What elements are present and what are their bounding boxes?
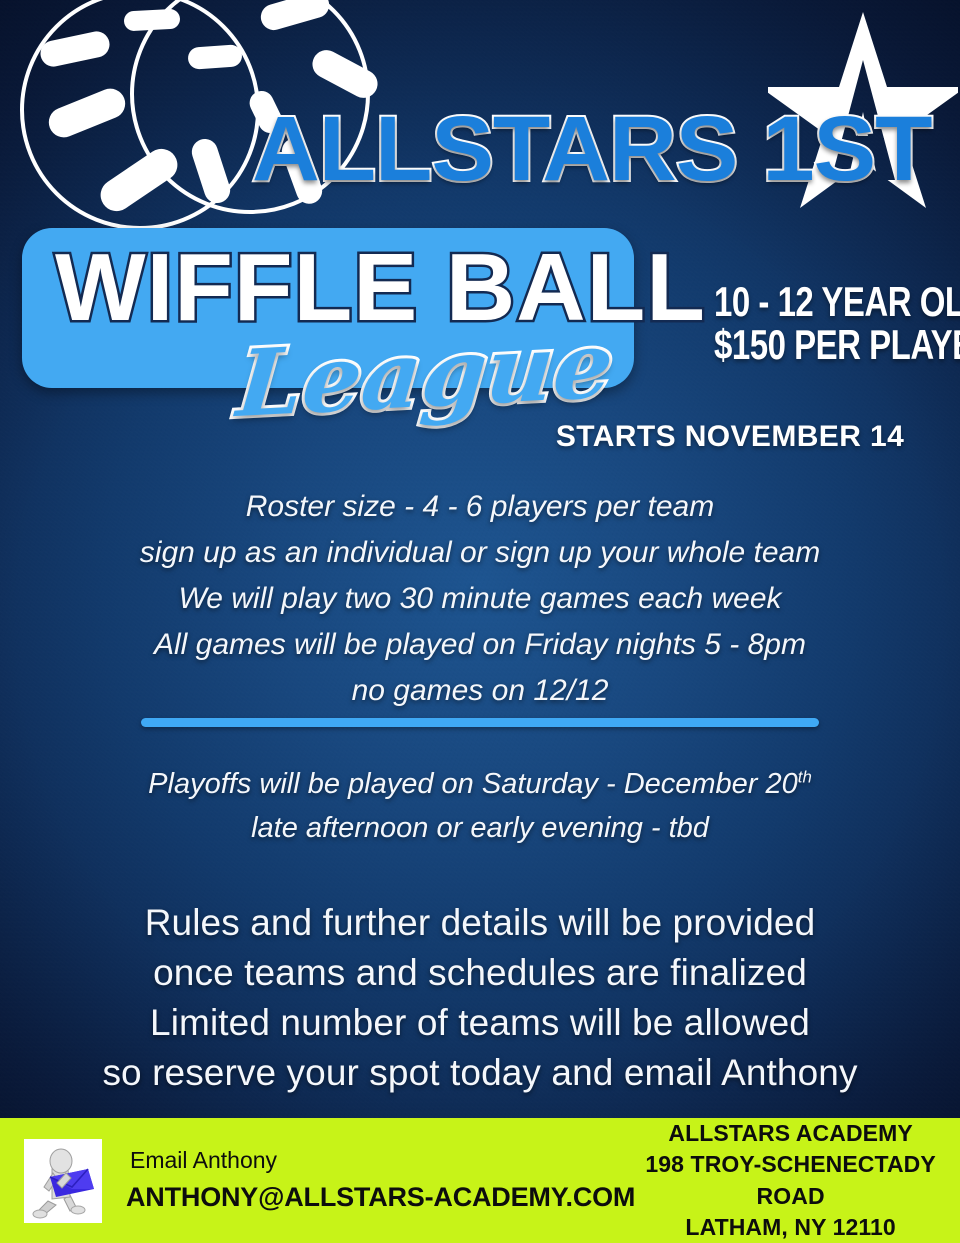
- rules-line: Limited number of teams will be allowed: [0, 998, 960, 1048]
- email-label: Email Anthony: [126, 1148, 635, 1183]
- footer-left-group: Email Anthony ANTHONY@ALLSTARS-ACADEMY.C…: [0, 1139, 635, 1223]
- start-date-text: STARTS NOVEMBER 14: [520, 420, 940, 454]
- playoffs-block: Playoffs will be played on Saturday - De…: [0, 762, 960, 850]
- detail-line: sign up as an individual or sign up your…: [0, 530, 960, 576]
- city-state-zip: LATHAM, NY 12110: [635, 1212, 946, 1243]
- playoffs-line-2: late afternoon or early evening - tbd: [0, 806, 960, 850]
- footer-address-group: ALLSTARS ACADEMY 198 TROY-SCHENECTADY RO…: [635, 1118, 960, 1243]
- running-person-with-envelope-icon: [24, 1139, 102, 1223]
- street-address: 198 TROY-SCHENECTADY ROAD: [635, 1149, 946, 1212]
- footer-contact-bar: Email Anthony ANTHONY@ALLSTARS-ACADEMY.C…: [0, 1118, 960, 1243]
- page-title-league-script: League: [234, 319, 617, 430]
- email-address-link[interactable]: ANTHONY@ALLSTARS-ACADEMY.COM: [126, 1183, 635, 1213]
- rules-line: once teams and schedules are finalized: [0, 948, 960, 998]
- rules-line: so reserve your spot today and email Ant…: [0, 1048, 960, 1098]
- section-divider: [141, 718, 819, 727]
- ordinal-suffix: th: [798, 767, 812, 786]
- page-title-allstars: ALLSTARS 1ST: [252, 103, 931, 195]
- footer-email-group: Email Anthony ANTHONY@ALLSTARS-ACADEMY.C…: [102, 1148, 635, 1213]
- playoffs-line-1: Playoffs will be played on Saturday - De…: [0, 762, 960, 806]
- flyer-poster: ALLSTARS 1ST WIFFLE BALL League 10 - 12 …: [0, 0, 960, 1243]
- playoffs-date-text: Playoffs will be played on Saturday - De…: [148, 768, 798, 800]
- price-text: $150 PER PLAYER: [714, 325, 937, 368]
- league-details-block: Roster size - 4 - 6 players per team sig…: [0, 484, 960, 714]
- detail-line: Roster size - 4 - 6 players per team: [0, 484, 960, 530]
- organization-name: ALLSTARS ACADEMY: [635, 1118, 946, 1149]
- detail-line: All games will be played on Friday night…: [0, 622, 960, 668]
- age-and-price: 10 - 12 YEAR OLDS $150 PER PLAYER: [714, 282, 937, 367]
- rules-block: Rules and further details will be provid…: [0, 898, 960, 1098]
- age-range-text: 10 - 12 YEAR OLDS: [714, 282, 937, 325]
- rules-line: Rules and further details will be provid…: [0, 898, 960, 948]
- detail-line: no games on 12/12: [0, 668, 960, 714]
- detail-line: We will play two 30 minute games each we…: [0, 576, 960, 622]
